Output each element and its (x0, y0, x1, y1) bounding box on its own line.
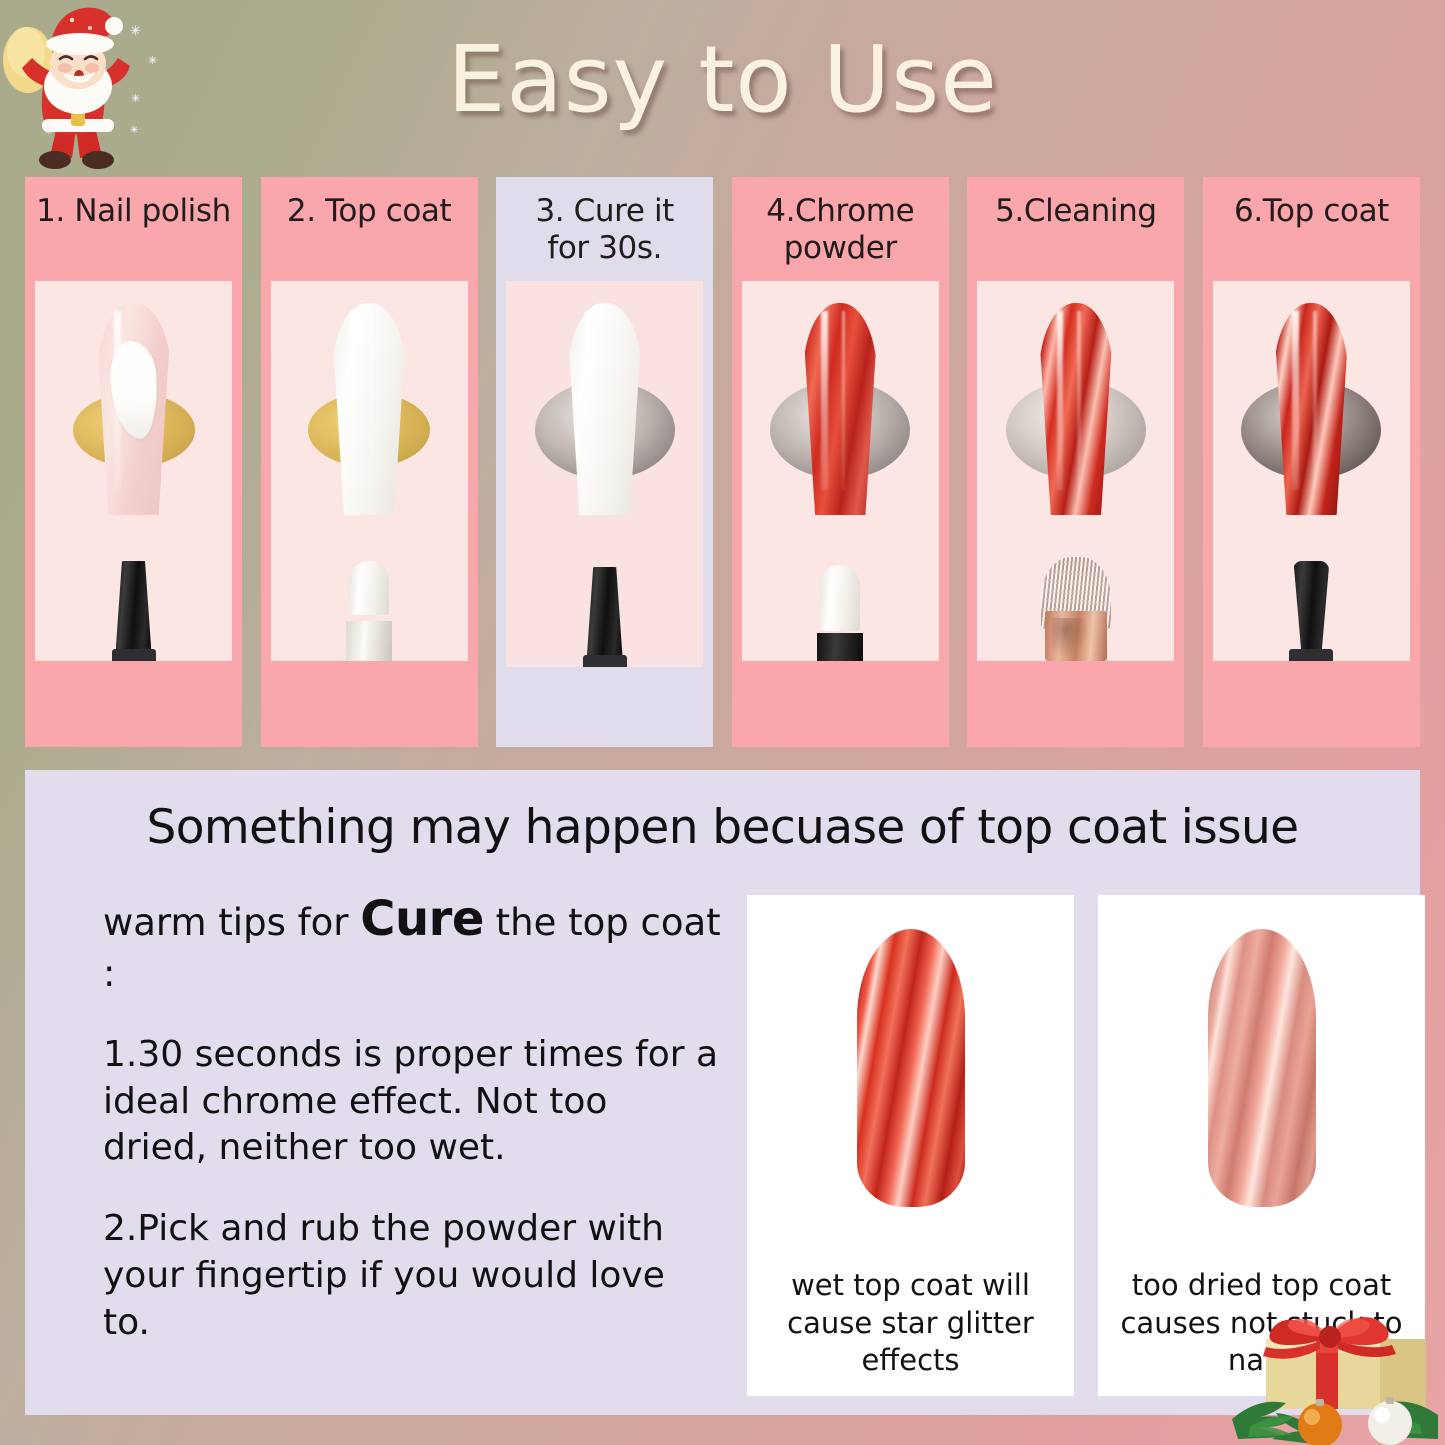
step-3-photo (506, 281, 703, 667)
cleaning-brush-icon (1041, 557, 1111, 661)
step-4-label-line2: powder (736, 230, 945, 267)
step-6-photo (1213, 281, 1410, 661)
step-2-photo (271, 281, 468, 661)
step-6-label: 6.Top coat (1203, 177, 1420, 281)
photo-caption-dried: too dried top coat causes not stuck to n… (1108, 1267, 1415, 1380)
photos-column: wet top coat will cause star glitter eff… (747, 889, 1425, 1396)
nail-tip-red-glitter (803, 303, 877, 515)
tips-lead-emphasis: Cure (360, 891, 484, 947)
polish-brush-icon (1293, 561, 1329, 661)
gloss-highlight-icon (1313, 311, 1317, 489)
photo-caption-wet: wet top coat will cause star glitter eff… (757, 1267, 1064, 1380)
nail-tip-white (332, 303, 406, 515)
gloss-highlight-icon (350, 311, 357, 489)
polish-brush-icon (116, 561, 152, 661)
nail-tip-red-chrome (1274, 303, 1348, 515)
info-heading: Something may happen becuase of top coat… (25, 770, 1420, 855)
tips-lead-before: warm tips for (103, 901, 349, 944)
gloss-highlight-icon (585, 311, 592, 489)
step-5-label: 5.Cleaning (967, 177, 1184, 281)
photo-card-dried: too dried top coat causes not stuck to n… (1098, 895, 1425, 1396)
gloss-highlight-icon (821, 311, 828, 489)
info-body: warm tips for Cure the top coat : 1.30 s… (25, 855, 1420, 1396)
step-card-2: 2. Top coat (261, 177, 478, 747)
chrome-powder-applicator-icon (820, 565, 860, 661)
gloss-highlight-icon (842, 311, 846, 489)
step-4-photo (742, 281, 939, 661)
tips-lead: warm tips for Cure the top coat : (81, 889, 721, 998)
poster-root: ✳ ✳ ✳ ✳ ✳ Easy to Use 1. Nail polish (0, 0, 1445, 1445)
gloss-highlight-icon (1292, 311, 1299, 489)
step-3-label-line2: for 30s. (500, 230, 709, 267)
nail-tip-red-chrome (1039, 303, 1113, 515)
step-2-label: 2. Top coat (261, 177, 478, 281)
tip-item-2: 2.Pick and rub the powder with your fing… (81, 1206, 721, 1346)
topcoat-brush-icon (349, 561, 389, 661)
step-3-label-line1: 3. Cure it (500, 193, 709, 230)
tips-column: warm tips for Cure the top coat : 1.30 s… (81, 889, 721, 1347)
step-1-photo (35, 281, 232, 661)
step-4-label-line1: 4.Chrome (736, 193, 945, 230)
step-card-4: 4.Chrome powder (732, 177, 949, 747)
nail-tip-dried-topcoat (1208, 929, 1316, 1207)
polish-brush-icon (587, 567, 623, 667)
nail-tip-wet-topcoat (857, 929, 965, 1207)
gloss-highlight-icon (1057, 311, 1064, 489)
gloss-highlight-icon (1077, 311, 1081, 489)
step-1-label: 1. Nail polish (25, 177, 242, 281)
steps-row: 1. Nail polish 2. Top coat (25, 177, 1420, 747)
photo-stage-dried (1108, 907, 1415, 1257)
page-title: Easy to Use (0, 26, 1445, 133)
step-card-6: 6.Top coat (1203, 177, 1420, 747)
tip-item-1: 1.30 seconds is proper times for a ideal… (81, 1032, 721, 1172)
photo-card-wet: wet top coat will cause star glitter eff… (747, 895, 1074, 1396)
step-card-5: 5.Cleaning (967, 177, 1184, 747)
step-card-1: 1. Nail polish (25, 177, 242, 747)
step-4-label: 4.Chrome powder (732, 177, 949, 281)
info-panel: Something may happen becuase of top coat… (25, 770, 1420, 1415)
photo-stage-wet (757, 907, 1064, 1257)
step-card-3: 3. Cure it for 30s. (496, 177, 713, 747)
step-5-photo (977, 281, 1174, 661)
gloss-highlight-icon (371, 311, 375, 489)
step-3-label: 3. Cure it for 30s. (496, 177, 713, 281)
nail-tip-white (568, 303, 642, 515)
